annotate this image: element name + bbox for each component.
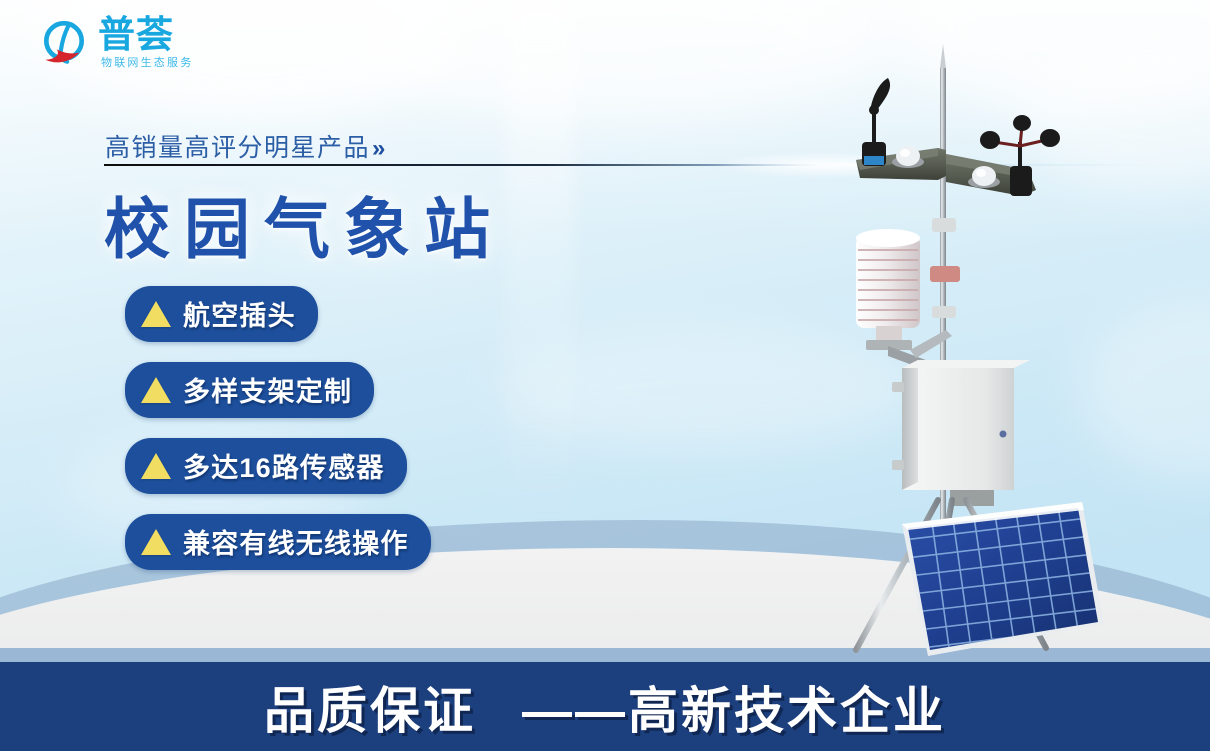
feature-label: 多达16路传感器 xyxy=(183,446,385,485)
feature-pill[interactable]: 多样支架定制 xyxy=(125,362,374,418)
white-equipment-enclosure xyxy=(892,360,1030,506)
louvered-radiation-shield xyxy=(856,229,942,376)
triangle-bullet-icon xyxy=(141,529,171,555)
circular-swoosh-logo-icon xyxy=(38,17,90,69)
triangle-bullet-icon xyxy=(141,453,171,479)
feature-label: 兼容有线无线操作 xyxy=(183,522,409,561)
feature-pill[interactable]: 多达16路传感器 xyxy=(125,438,407,494)
footer-text: 品质保证——高新技术企业 xyxy=(264,671,946,743)
brand-tagline: 物联网生态服务 xyxy=(101,58,193,69)
triangle-bullet-icon xyxy=(141,301,171,327)
brand-name: 普荟 xyxy=(98,16,193,53)
triangle-bullet-icon xyxy=(141,377,171,403)
brand-logo: 普荟 物联网生态服务 xyxy=(38,16,193,69)
feature-label: 航空插头 xyxy=(183,294,296,333)
brand-wordmark: 普荟 物联网生态服务 xyxy=(98,16,193,69)
feature-list: 航空插头 多样支架定制 多达16路传感器 兼容有线无线操作 xyxy=(125,286,431,570)
hero-eyebrow: 高销量高评分明星产品» xyxy=(105,128,387,164)
chevron-right-icon: » xyxy=(372,135,387,162)
page-title: 校园气象站 xyxy=(104,176,504,272)
feature-pill[interactable]: 航空插头 xyxy=(125,286,318,342)
hero-eyebrow-text: 高销量高评分明星产品 xyxy=(105,134,370,162)
footer-left-text: 品质保证 xyxy=(264,683,476,739)
footer-right-text: 高新技术企业 xyxy=(628,683,946,739)
feature-label: 多样支架定制 xyxy=(183,370,352,409)
feature-pill[interactable]: 兼容有线无线操作 xyxy=(125,514,431,570)
footer-banner: 品质保证——高新技术企业 xyxy=(0,662,1210,751)
product-promo-banner: 普荟 物联网生态服务 高销量高评分明星产品» 校园气象站 航空插头 多样支架定制… xyxy=(0,0,1210,751)
weather-station-product-photo xyxy=(760,30,1180,670)
footer-dash: —— xyxy=(522,683,628,739)
